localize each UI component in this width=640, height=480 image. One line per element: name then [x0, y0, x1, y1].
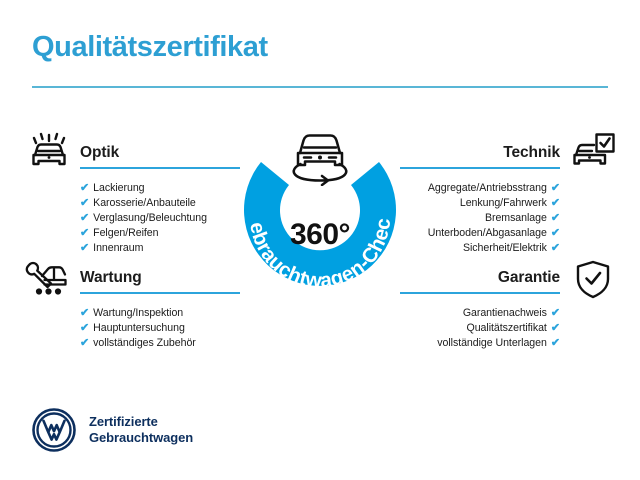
list-item-label: Hauptuntersuchung [93, 322, 185, 334]
badge-360-gebrauchtwagen-check: Gebrauchtwagen-Check 360° [223, 122, 417, 312]
list-item: Bremsanlage✔ [400, 211, 560, 226]
check-icon: ✔ [551, 226, 560, 241]
list-item-label: Felgen/Reifen [93, 227, 158, 239]
list-item: ✔Hauptuntersuchung [80, 321, 240, 336]
check-icon: ✔ [551, 241, 560, 256]
list-item: Aggregate/Antriebsstrang✔ [400, 181, 560, 196]
list-item-label: Wartung/Inspektion [93, 307, 183, 319]
check-icon: ✔ [80, 306, 89, 321]
section-wartung-list: ✔Wartung/Inspektion ✔Hauptuntersuchung ✔… [80, 306, 240, 351]
car-rotate-360-icon [284, 124, 356, 191]
section-technik-divider [400, 167, 560, 169]
list-item-label: Unterboden/Abgasanlage [428, 227, 547, 239]
list-item-label: Aggregate/Antriebsstrang [428, 182, 547, 194]
list-item: ✔Lackierung [80, 181, 240, 196]
section-optik-title: Optik [80, 143, 240, 163]
footer-line-2: Gebrauchtwagen [89, 430, 193, 446]
section-technik-list: Aggregate/Antriebsstrang✔ Lenkung/Fahrwe… [400, 181, 560, 256]
list-item-label: Sicherheit/Elektrik [463, 242, 547, 254]
list-item: ✔Karosserie/Anbauteile [80, 196, 240, 211]
list-item-label: Verglasung/Beleuchtung [93, 212, 207, 224]
footer-line-1: Zertifizierte [89, 414, 193, 430]
list-item-label: vollständige Unterlagen [437, 337, 547, 349]
list-item-label: Karosserie/Anbauteile [93, 197, 196, 209]
list-item-label: Innenraum [93, 242, 143, 254]
check-icon: ✔ [80, 241, 89, 256]
header-divider [32, 86, 608, 88]
check-icon: ✔ [80, 181, 89, 196]
shield-check-icon [574, 259, 612, 306]
list-item: Garantienachweis✔ [400, 306, 560, 321]
check-icon: ✔ [551, 196, 560, 211]
list-item: Unterboden/Abgasanlage✔ [400, 226, 560, 241]
check-icon: ✔ [551, 211, 560, 226]
section-optik-list: ✔Lackierung ✔Karosserie/Anbauteile ✔Verg… [80, 181, 240, 256]
section-garantie: Garantie Garantienachweis✔ Qualitätszert… [400, 268, 560, 351]
list-item: ✔Felgen/Reifen [80, 226, 240, 241]
check-icon: ✔ [80, 211, 89, 226]
section-garantie-divider [400, 292, 560, 294]
car-service-wrench-icon [24, 258, 70, 303]
list-item-label: vollständiges Zubehör [93, 337, 196, 349]
section-wartung-header: Wartung [80, 268, 240, 298]
list-item: Qualitätszertifikat✔ [400, 321, 560, 336]
check-icon: ✔ [80, 336, 89, 351]
section-wartung-divider [80, 292, 240, 294]
section-garantie-header: Garantie [400, 268, 560, 298]
section-technik-header: Technik [400, 143, 560, 173]
section-garantie-list: Garantienachweis✔ Qualitätszertifikat✔ v… [400, 306, 560, 351]
section-optik-header: Optik [80, 143, 240, 173]
car-shine-icon [26, 131, 72, 176]
check-icon: ✔ [80, 196, 89, 211]
list-item: ✔Verglasung/Beleuchtung [80, 211, 240, 226]
check-icon: ✔ [551, 306, 560, 321]
footer-text: Zertifizierte Gebrauchtwagen [89, 414, 193, 446]
list-item: Lenkung/Fahrwerk✔ [400, 196, 560, 211]
certificate-page: Qualitätszertifikat Optik ✔Lackierung ✔K… [0, 0, 640, 480]
section-garantie-title: Garantie [400, 268, 560, 288]
check-icon: ✔ [551, 321, 560, 336]
list-item: ✔Wartung/Inspektion [80, 306, 240, 321]
list-item-label: Lackierung [93, 182, 144, 194]
section-optik-divider [80, 167, 240, 169]
list-item: ✔Innenraum [80, 241, 240, 256]
check-icon: ✔ [551, 181, 560, 196]
list-item-label: Garantienachweis [463, 307, 547, 319]
section-technik: Technik Aggregate/Antriebsstrang✔ Lenkun… [400, 143, 560, 256]
vw-logo [32, 408, 76, 452]
page-title: Qualitätszertifikat [32, 33, 268, 62]
list-item-label: Bremsanlage [485, 212, 547, 224]
list-item-label: Lenkung/Fahrwerk [460, 197, 547, 209]
check-icon: ✔ [80, 321, 89, 336]
check-icon: ✔ [80, 226, 89, 241]
list-item: vollständige Unterlagen✔ [400, 336, 560, 351]
section-technik-title: Technik [400, 143, 560, 163]
car-checkbox-icon [572, 132, 616, 177]
list-item-label: Qualitätszertifikat [467, 322, 547, 334]
section-wartung-title: Wartung [80, 268, 240, 288]
list-item: ✔vollständiges Zubehör [80, 336, 240, 351]
badge-center-label: 360° [223, 218, 417, 252]
list-item: Sicherheit/Elektrik✔ [400, 241, 560, 256]
check-icon: ✔ [551, 336, 560, 351]
section-wartung: Wartung ✔Wartung/Inspektion ✔Hauptunters… [80, 268, 240, 351]
vw-certified-lockup: Zertifizierte Gebrauchtwagen [32, 408, 193, 452]
section-optik: Optik ✔Lackierung ✔Karosserie/Anbauteile… [80, 143, 240, 256]
